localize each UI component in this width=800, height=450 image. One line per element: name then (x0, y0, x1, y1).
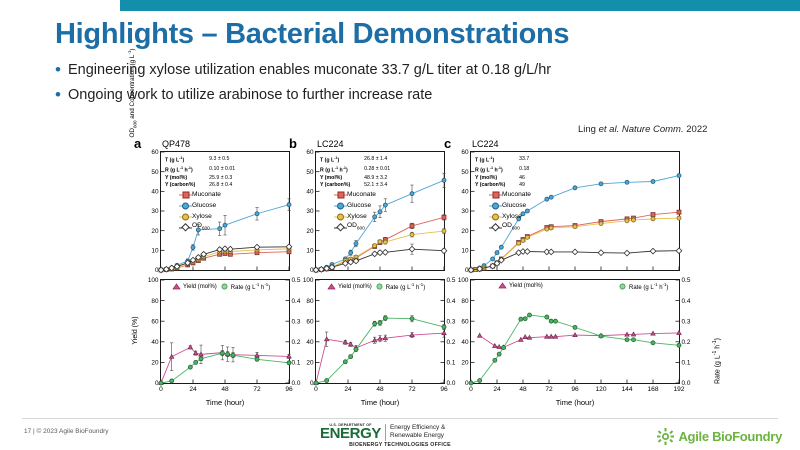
plot-area-c-bottom: 0204060801000.00.10.20.30.40.50244872961… (470, 279, 680, 384)
square-marker-icon (179, 191, 192, 199)
svg-text:0.1: 0.1 (682, 360, 691, 367)
stats-table-a: T (g L-1) 9.3 ± 0.5 R (g L-1 h-1) 0.10 ±… (165, 155, 235, 190)
legend-label: Rate (g L-1 h-1) (386, 282, 425, 291)
chart-c-bottom: 0204060801000.00.10.20.30.40.50244872961… (471, 280, 679, 383)
diamond-marker-icon (179, 224, 192, 232)
svg-text:60: 60 (461, 318, 469, 325)
axis-label-y-top-a: OD600 and Concentration (g L-1) (127, 34, 137, 152)
bottom-legend-a: Yield (mol%) Rate (g L-1 h-1) (172, 282, 270, 291)
plot-area-a-top: T (g L-1) 9.3 ± 0.5 R (g L-1 h-1) 0.10 ±… (160, 151, 290, 271)
svg-text:24: 24 (189, 386, 197, 393)
legend-label: OD600 (192, 220, 210, 234)
svg-text:0.5: 0.5 (682, 277, 691, 284)
bottom-legend-c-yield: Yield (mol%) (498, 282, 543, 289)
svg-text:10: 10 (151, 248, 159, 255)
legend-label: OD600 (502, 220, 520, 234)
svg-text:0: 0 (314, 386, 318, 393)
stat-key: R (g L-1 h-1) (165, 165, 209, 175)
legend-label: Rate (g L-1 h-1) (231, 282, 270, 291)
circle-marker-icon (618, 283, 627, 290)
legend-label: Yield (mol%) (183, 284, 217, 290)
agile-biofoundry-logo: Agile BioFoundry (657, 428, 782, 445)
svg-text:80: 80 (461, 298, 469, 305)
svg-text:72: 72 (545, 386, 553, 393)
diamond-marker-icon (334, 224, 347, 232)
svg-text:24: 24 (344, 386, 352, 393)
legend-label: Glucose (347, 200, 371, 211)
triangle-marker-icon (172, 283, 181, 290)
svg-text:40: 40 (151, 189, 159, 196)
stat-value: 25.9 ± 0.3 (209, 175, 235, 182)
svg-text:72: 72 (408, 386, 416, 393)
svg-text:50: 50 (306, 169, 314, 176)
panel-strain-label-b: LC224 (317, 139, 344, 149)
circle-marker-icon (334, 213, 347, 221)
plot-area-b-bottom: 0204060801000.00.10.20.30.40.5024487296 (315, 279, 445, 384)
svg-text:60: 60 (151, 149, 159, 156)
svg-text:80: 80 (151, 298, 159, 305)
svg-text:30: 30 (306, 208, 314, 215)
plot-area-a-bottom: 0204060801000.00.10.20.30.40.5024487296 (160, 279, 290, 384)
bottom-legend-b: Yield (mol%) Rate (g L-1 h-1) (327, 282, 425, 291)
doe-office-line1: Energy Efficiency & (390, 424, 445, 432)
figure-panel-a: a QP478 OD600 and Concentration (g L-1) … (130, 136, 298, 411)
figure-panel-b: b LC224 T (g L-1) 26.8 ± 1.4 R (g L-1 h-… (285, 136, 453, 411)
panel-letter-b: b (289, 136, 297, 151)
list-item: • Engineering xylose utilization enables… (55, 62, 775, 79)
svg-text:120: 120 (595, 386, 606, 393)
legend-label: Rate (g L-1 h-1) (629, 282, 668, 291)
list-item: • Ongoing work to utilize arabinose to f… (55, 87, 775, 104)
legend-label: Yield (mol%) (509, 283, 543, 289)
svg-text:0.3: 0.3 (682, 318, 691, 325)
svg-text:50: 50 (151, 169, 159, 176)
bullet-dot-icon: • (55, 87, 68, 103)
circle-marker-icon (220, 283, 229, 290)
axis-label-y-right-c: Rate (g L-1 h-1) (712, 338, 721, 384)
legend-entry-muconate: Muconate (489, 189, 531, 200)
legend-entry-glucose: Glucose (179, 200, 221, 211)
legend-entry-muconate: Muconate (179, 189, 221, 200)
stat-key: T (g L-1) (165, 155, 209, 165)
svg-text:20: 20 (306, 228, 314, 235)
stat-value: 9.3 ± 0.5 (209, 155, 235, 165)
stat-key: Y (mol%) (165, 175, 209, 182)
svg-text:0: 0 (159, 386, 163, 393)
axis-label-x-b: Time (hour) (315, 398, 445, 407)
svg-text:96: 96 (571, 386, 579, 393)
svg-text:80: 80 (306, 298, 314, 305)
series-legend-b: Muconate Glucose Xylose (334, 189, 376, 233)
svg-text:100: 100 (458, 277, 469, 284)
stat-key: Y (mol%) (475, 175, 519, 182)
svg-text:20: 20 (461, 228, 469, 235)
axis-label-x-c: Time (hour) (470, 398, 680, 407)
doe-office-line2: Renewable Energy (390, 432, 445, 440)
svg-text:40: 40 (306, 339, 314, 346)
svg-text:60: 60 (461, 149, 469, 156)
axis-label-x-a: Time (hour) (160, 398, 290, 407)
bullet-text: Ongoing work to utilize arabinose to fur… (68, 87, 432, 104)
stat-value: 0.10 ± 0.01 (209, 165, 235, 175)
series-legend-a: Muconate Glucose Xylose (179, 189, 221, 233)
figure-panel-group: a QP478 OD600 and Concentration (g L-1) … (130, 136, 690, 411)
stat-key: T (g L-1) (320, 155, 364, 165)
stat-key: R (g L-1 h-1) (475, 165, 519, 175)
legend-label: Glucose (192, 200, 216, 211)
stat-value: 48.9 ± 3.2 (364, 175, 390, 182)
svg-text:100: 100 (303, 277, 314, 284)
bullet-dot-icon: • (55, 62, 68, 78)
stat-value: 0.18 (519, 165, 529, 175)
svg-text:30: 30 (151, 208, 159, 215)
figure-citation: Ling et al. Nature Comm. 2022 (578, 124, 707, 135)
legend-entry-rate: Rate (g L-1 h-1) (220, 282, 270, 291)
svg-text:24: 24 (493, 386, 501, 393)
legend-entry-rate: Rate (g L-1 h-1) (375, 282, 425, 291)
svg-text:100: 100 (148, 277, 159, 284)
square-marker-icon (334, 191, 347, 199)
svg-text:50: 50 (461, 169, 469, 176)
svg-text:168: 168 (647, 386, 658, 393)
axis-label-y-bot-a: Yield (%) (132, 279, 139, 382)
svg-text:72: 72 (253, 386, 261, 393)
svg-text:144: 144 (621, 386, 632, 393)
chart-a-bottom: 0204060801000.00.10.20.30.40.5024487296 (161, 280, 289, 383)
svg-text:20: 20 (461, 360, 469, 367)
header-accent-bar (120, 0, 800, 11)
stat-value: 0.28 ± 0.01 (364, 165, 390, 175)
bottom-legend-c-rate: Rate (g L-1 h-1) (618, 282, 668, 291)
figure-panel-c: c LC224 T (g L-1) 33.7 R (g L-1 h-1) 0.1… (440, 136, 690, 411)
stats-table-b: T (g L-1) 26.8 ± 1.4 R (g L-1 h-1) 0.28 … (320, 155, 390, 190)
svg-text:0.2: 0.2 (682, 339, 691, 346)
legend-entry-yield: Yield (mol%) (327, 283, 372, 290)
agile-biofoundry-wordmark: Agile BioFoundry (678, 429, 782, 444)
footer-divider (22, 418, 778, 419)
legend-entry-od600: OD600 (179, 222, 221, 233)
svg-text:40: 40 (461, 189, 469, 196)
doe-energy-label: ENERGY (320, 427, 381, 441)
citation-year: 2022 (684, 124, 708, 135)
legend-label: Glucose (502, 200, 526, 211)
svg-text:48: 48 (519, 386, 527, 393)
bullet-text: Engineering xylose utilization enables m… (68, 62, 551, 79)
legend-entry-yield: Yield (mol%) (172, 283, 217, 290)
plot-area-b-top: T (g L-1) 26.8 ± 1.4 R (g L-1 h-1) 0.28 … (315, 151, 445, 271)
svg-text:60: 60 (306, 149, 314, 156)
bioenergy-office-label: BIOENERGY TECHNOLOGIES OFFICE (320, 442, 480, 448)
svg-text:40: 40 (151, 339, 159, 346)
circle-marker-icon (334, 202, 347, 210)
panel-letter-c: c (444, 136, 451, 151)
diamond-marker-icon (489, 224, 502, 232)
svg-text:60: 60 (151, 318, 159, 325)
svg-text:20: 20 (151, 228, 159, 235)
svg-text:48: 48 (221, 386, 229, 393)
chart-b-bottom: 0204060801000.00.10.20.30.40.5024487296 (316, 280, 444, 383)
svg-text:60: 60 (306, 318, 314, 325)
triangle-marker-icon (498, 282, 507, 289)
series-legend-c: Muconate Glucose Xylose (489, 189, 531, 233)
square-marker-icon (489, 191, 502, 199)
circle-marker-icon (489, 213, 502, 221)
stat-value: 26.8 ± 1.4 (364, 155, 390, 165)
svg-text:40: 40 (306, 189, 314, 196)
doe-wordmark: U.S. DEPARTMENT OF ENERGY (320, 423, 381, 441)
citation-journal: et al. Nature Comm. (599, 124, 684, 135)
legend-entry-glucose: Glucose (489, 200, 531, 211)
svg-text:0.4: 0.4 (682, 298, 691, 305)
legend-label: Muconate (502, 189, 531, 200)
circle-marker-icon (179, 213, 192, 221)
doe-logo: U.S. DEPARTMENT OF ENERGY Energy Efficie… (320, 423, 445, 441)
legend-entry-od600: OD600 (489, 222, 531, 233)
legend-entry-rate: Rate (g L-1 h-1) (618, 282, 668, 291)
legend-entry-glucose: Glucose (334, 200, 376, 211)
legend-label: OD600 (347, 220, 365, 234)
legend-label: Yield (mol%) (338, 284, 372, 290)
bullet-list: • Engineering xylose utilization enables… (55, 62, 775, 112)
panel-strain-label-a: QP478 (162, 139, 190, 149)
legend-entry-muconate: Muconate (334, 189, 376, 200)
panel-strain-label-c: LC224 (472, 139, 499, 149)
svg-text:10: 10 (461, 248, 469, 255)
citation-author: Ling (578, 124, 599, 135)
legend-entry-yield: Yield (mol%) (498, 282, 543, 289)
circle-marker-icon (179, 202, 192, 210)
triangle-marker-icon (327, 283, 336, 290)
svg-text:10: 10 (306, 248, 314, 255)
footer-copyright: 17 | © 2023 Agile BioFoundry (24, 428, 109, 435)
circle-marker-icon (489, 202, 502, 210)
stat-value: 46 (519, 175, 529, 182)
stat-key: T (g L-1) (475, 155, 519, 165)
svg-text:0: 0 (469, 386, 473, 393)
svg-text:48: 48 (376, 386, 384, 393)
stats-table-c: T (g L-1) 33.7 R (g L-1 h-1) 0.18 Y (mol… (475, 155, 529, 190)
svg-text:40: 40 (461, 339, 469, 346)
svg-text:30: 30 (461, 208, 469, 215)
gear-icon (657, 428, 674, 445)
stat-key: R (g L-1 h-1) (320, 165, 364, 175)
plot-area-c-top: T (g L-1) 33.7 R (g L-1 h-1) 0.18 Y (mol… (470, 151, 680, 271)
doe-divider (385, 424, 386, 441)
stat-key: Y (mol%) (320, 175, 364, 182)
svg-text:192: 192 (673, 386, 684, 393)
stat-value: 33.7 (519, 155, 529, 165)
doe-office-label: Energy Efficiency & Renewable Energy (390, 423, 445, 440)
legend-entry-od600: OD600 (334, 222, 376, 233)
legend-label: Muconate (192, 189, 221, 200)
svg-text:20: 20 (151, 360, 159, 367)
legend-label: Muconate (347, 189, 376, 200)
svg-text:20: 20 (306, 360, 314, 367)
circle-marker-icon (375, 283, 384, 290)
